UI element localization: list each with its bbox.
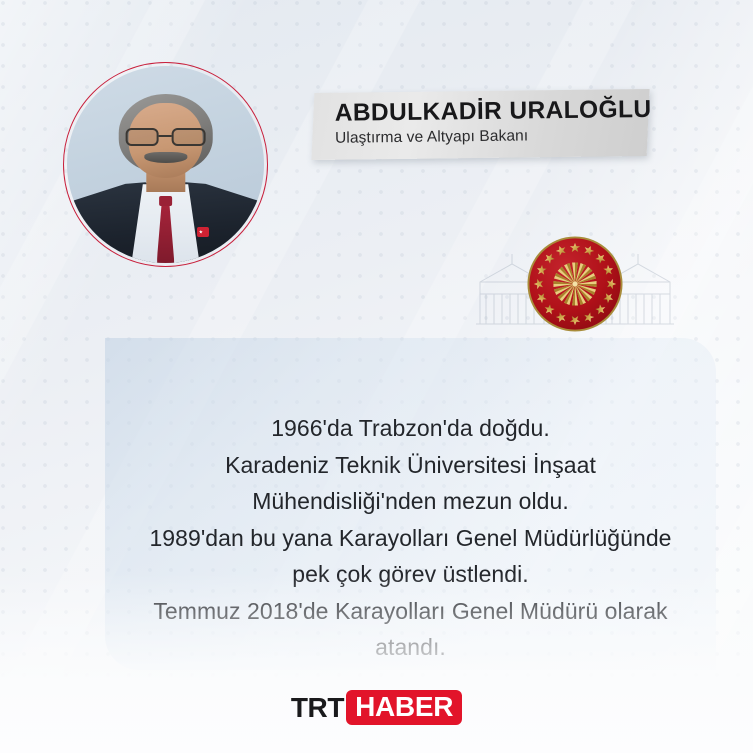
emblem-zone <box>472 232 678 336</box>
glasses-right-lens <box>172 128 206 146</box>
person-name: ABDULKADİR URALOĞLU <box>335 96 649 127</box>
person-title: Ulaştırma ve Altyapı Bakanı <box>335 123 648 150</box>
biography-panel: 1966'da Trabzon'da doğdu. Karadeniz Tekn… <box>105 338 716 670</box>
logo-haber-text: HABER <box>346 690 462 725</box>
biography-text: 1966'da Trabzon'da doğdu. Karadeniz Tekn… <box>105 410 716 666</box>
name-banner-content: ABDULKADİR URALOĞLU Ulaştırma ve Altyapı… <box>312 89 648 160</box>
presidency-emblem-icon <box>526 235 624 333</box>
bio-line: Temmuz 2018'de Karayolları Genel Müdürü … <box>105 593 716 630</box>
bio-line: 1989'dan bu yana Karayolları Genel Müdür… <box>105 520 716 557</box>
trt-haber-logo: TRT HABER <box>0 690 753 725</box>
turkish-flag-pin-icon <box>197 227 209 237</box>
bio-line: pek çok görev üstlendi. <box>105 556 716 593</box>
glasses-bridge <box>159 135 172 137</box>
glasses-left-lens <box>125 128 159 146</box>
bio-line: atandı. <box>105 629 716 666</box>
bio-line: Karadeniz Teknik Üniversitesi İnşaat <box>105 447 716 484</box>
name-banner: ABDULKADİR URALOĞLU Ulaştırma ve Altyapı… <box>311 89 649 160</box>
portrait-tie-knot <box>159 196 173 206</box>
portrait-photo <box>67 66 264 263</box>
bio-line: Mühendisliği'nden mezun oldu. <box>105 483 716 520</box>
logo-trt-text: TRT <box>291 692 344 724</box>
info-card: ABDULKADİR URALOĞLU Ulaştırma ve Altyapı… <box>0 0 753 753</box>
avatar <box>63 62 268 267</box>
bio-line: 1966'da Trabzon'da doğdu. <box>105 410 716 447</box>
portrait-mustache <box>144 152 187 163</box>
eyeglasses-icon <box>125 128 206 146</box>
